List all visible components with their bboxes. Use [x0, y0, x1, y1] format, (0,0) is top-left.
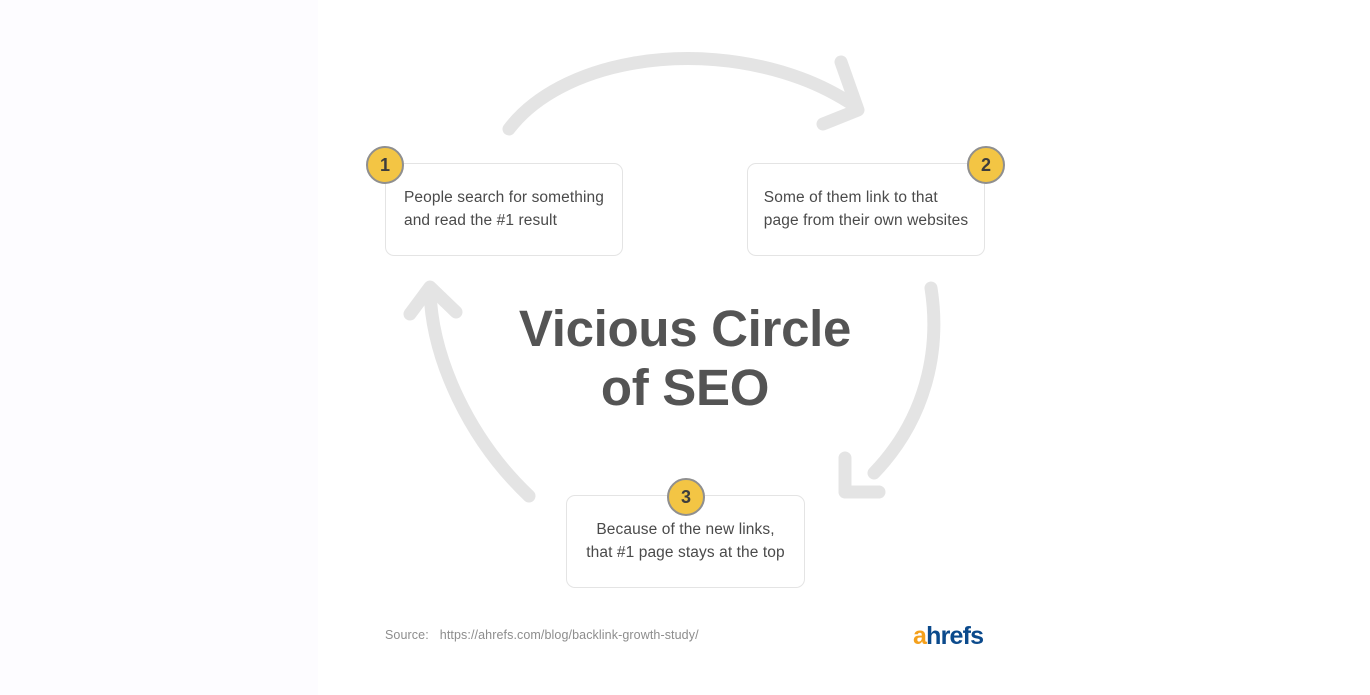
step-3-text: Because of the new links, that #1 page s…	[586, 519, 785, 565]
step-1-text: People search for something and read the…	[404, 187, 604, 233]
ahrefs-logo-text: hrefs	[926, 622, 983, 650]
source-attribution: Source: https://ahrefs.com/blog/backlink…	[385, 628, 699, 642]
step-box-2: Some of them link to that page from thei…	[747, 163, 985, 256]
step-box-1: People search for something and read the…	[385, 163, 623, 256]
background-left-band	[0, 0, 318, 695]
ahrefs-logo: ahrefs	[913, 624, 983, 649]
step-badge-3-number: 3	[681, 488, 691, 506]
diagram-title-line-2: of SEO	[435, 359, 935, 418]
step-badge-3: 3	[667, 478, 705, 516]
diagram-title: Vicious Circle of SEO	[435, 300, 935, 417]
step-badge-2: 2	[967, 146, 1005, 184]
step-badge-1: 1	[366, 146, 404, 184]
source-url[interactable]: https://ahrefs.com/blog/backlink-growth-…	[440, 628, 699, 642]
source-label: Source:	[385, 628, 429, 642]
infographic-canvas: People search for something and read the…	[0, 0, 1370, 695]
step-2-text: Some of them link to that page from thei…	[764, 187, 968, 233]
diagram-title-line-1: Vicious Circle	[435, 300, 935, 359]
ahrefs-logo-accent-letter: a	[913, 622, 926, 650]
step-badge-2-number: 2	[981, 156, 991, 174]
step-badge-1-number: 1	[380, 156, 390, 174]
